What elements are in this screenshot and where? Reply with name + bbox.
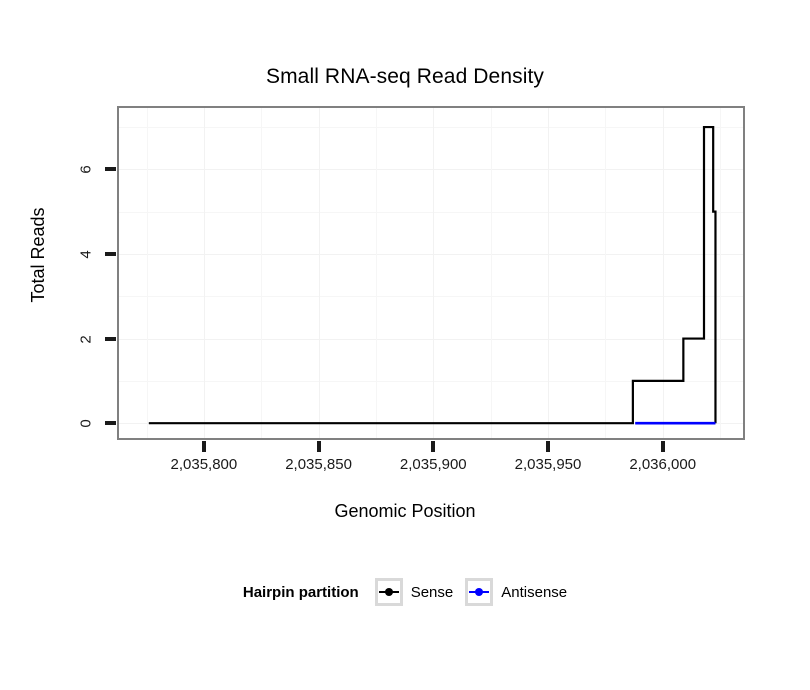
legend-label: Sense [411,584,454,601]
x-tick-mark [431,441,435,452]
plot-area [119,108,743,438]
chart-figure: Small RNA-seq Read Density 0246 2,035,80… [0,0,810,690]
x-tick-label: 2,035,850 [254,456,384,473]
y-axis-label: Total Reads [27,155,49,355]
legend-point-glyph-icon [385,588,393,596]
x-tick-label: 2,035,950 [483,456,613,473]
y-tick-mark [105,421,116,425]
legend: Hairpin partition SenseAntisense [0,578,810,606]
plot-panel [117,106,745,440]
legend-point-glyph-icon [475,588,483,596]
x-tick-label: 2,035,900 [368,456,498,473]
x-axis-label: Genomic Position [0,500,810,522]
x-axis: 2,035,8002,035,8502,035,9002,035,9502,03… [117,440,745,480]
legend-label: Antisense [501,584,567,601]
legend-item-sense[interactable]: Sense [375,578,454,606]
chart-title: Small RNA-seq Read Density [0,64,810,90]
x-tick-label: 2,035,800 [139,456,269,473]
legend-key-antisense [465,578,493,606]
legend-item-antisense[interactable]: Antisense [465,578,567,606]
y-tick-mark [105,337,116,341]
x-tick-mark [202,441,206,452]
y-tick-label: 0 [79,411,94,437]
x-tick-mark [546,441,550,452]
series-layer [119,108,743,438]
y-tick-mark [105,252,116,256]
y-tick-label: 6 [79,157,94,183]
legend-key-sense [375,578,403,606]
x-tick-label: 2,036,000 [598,456,728,473]
y-tick-mark [105,167,116,171]
x-tick-mark [317,441,321,452]
y-tick-label: 2 [79,326,94,352]
x-tick-mark [661,441,665,452]
series-line-sense [149,127,716,423]
y-tick-label: 4 [79,241,94,267]
legend-title: Hairpin partition [243,584,359,601]
